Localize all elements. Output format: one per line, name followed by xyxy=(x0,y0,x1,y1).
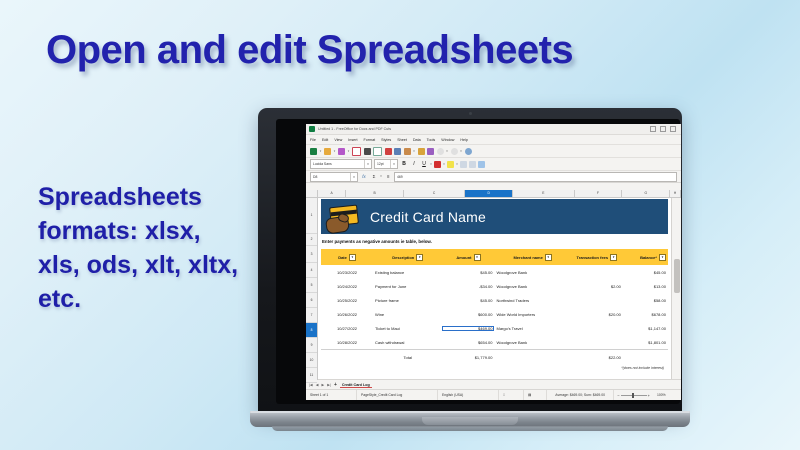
zoom-track[interactable] xyxy=(621,395,647,396)
cell-fee[interactable]: $2.00 xyxy=(571,284,623,289)
minimize-button[interactable] xyxy=(650,126,656,132)
spreadsheet-grid: A B C D E F G H 1 2 3 xyxy=(306,190,681,380)
header-amount-label: Amount xyxy=(456,255,471,260)
header-merchant-label: Merchant name xyxy=(513,255,542,260)
filter-dropdown-icon[interactable]: ▾ xyxy=(659,254,666,261)
print-preview-icon[interactable] xyxy=(373,147,382,156)
row-header-5[interactable]: 5 xyxy=(306,278,317,293)
cell-amount[interactable]: $45.00 xyxy=(442,298,494,303)
header-description-label: Description xyxy=(392,255,414,260)
cell-balance[interactable]: $45.00 xyxy=(623,270,668,275)
zoom-knob[interactable] xyxy=(632,393,634,398)
status-bar: Sheet 1 of 1 PageStyle_Credit Card Log E… xyxy=(306,389,681,400)
cell-merchant[interactable]: Woodgrove Bank xyxy=(494,284,570,289)
formats-line-1: Spreadsheets xyxy=(38,180,278,214)
formats-description: Spreadsheets formats: xlsx, xls, ods, xl… xyxy=(38,180,278,316)
menu-bar[interactable]: File Edit View Insert Format Styles Shee… xyxy=(306,135,681,145)
status-page-style: PageStyle_Credit Card Log xyxy=(357,390,438,400)
cell-merchant[interactable]: Margo's Travel xyxy=(494,326,570,331)
font-name-combo[interactable]: Lucida Sans ▾ xyxy=(310,159,372,169)
zoom-in-icon[interactable]: + xyxy=(648,393,650,398)
table-row[interactable]: 10/27/2022 Ticket to Maui $469.00 Margo'… xyxy=(321,321,668,335)
sheet-tab-credit-card-log[interactable]: Credit Card Log xyxy=(340,383,372,388)
formatting-toolbar[interactable]: Lucida Sans ▾ 12pt ▾ B I U ▾ ▾ xyxy=(306,158,681,171)
cell-fee[interactable]: $20.00 xyxy=(571,312,623,317)
paste-icon[interactable] xyxy=(404,148,411,155)
cell-amount-selected[interactable]: $469.00 xyxy=(442,326,494,331)
function-wizard-icon[interactable]: fx xyxy=(360,174,368,179)
zoom-slider[interactable]: − + xyxy=(614,393,653,398)
column-header-b[interactable]: B xyxy=(346,190,404,197)
laptop-base-notch xyxy=(422,417,518,425)
last-sheet-icon[interactable]: ▶| xyxy=(327,383,331,387)
add-sheet-icon[interactable]: + xyxy=(334,382,337,388)
find-replace-icon[interactable] xyxy=(465,148,472,155)
clone-formatting-icon[interactable] xyxy=(418,148,425,155)
header-merchant[interactable]: Merchant name ▾ xyxy=(494,254,570,261)
header-date[interactable]: Date ▾ xyxy=(321,254,373,261)
cell-merchant[interactable]: Woodgrove Bank xyxy=(494,270,570,275)
row-header-2[interactable]: 2 xyxy=(306,234,317,246)
scrollbar-thumb[interactable] xyxy=(674,259,680,293)
redo-icon[interactable] xyxy=(451,148,458,155)
name-box-value: D8 xyxy=(311,175,350,179)
dropdown-caret-icon: ▾ xyxy=(348,148,350,155)
dropdown-caret-icon: ▾ xyxy=(446,148,448,155)
formula-input[interactable]: 469 xyxy=(394,172,677,182)
font-size-value: 12pt xyxy=(377,160,390,168)
header-balance[interactable]: Balance* ▾ xyxy=(623,254,668,261)
cell-merchant[interactable]: Northwind Traders xyxy=(494,298,570,303)
filter-dropdown-icon[interactable]: ▾ xyxy=(349,254,356,261)
cell-balance[interactable]: $13.00 xyxy=(623,284,668,289)
promo-banner: Open and edit Spreadsheets Spreadsheets … xyxy=(0,0,800,450)
formats-line-3: xls, ods, xlt, xltx, xyxy=(38,248,278,282)
column-header-h[interactable]: H xyxy=(670,190,681,197)
header-fees[interactable]: Transaction fees ▾ xyxy=(571,254,623,261)
menu-format[interactable]: Format xyxy=(363,138,375,142)
cell-date[interactable]: 10/24/2022 xyxy=(321,284,373,289)
laptop-mockup: Untitled 1 - FreeOffice for Docs and PDF… xyxy=(250,108,690,443)
row-headers[interactable]: 1 2 3 4 5 6 7 8 9 10 11 xyxy=(306,197,318,380)
row-header-11[interactable]: 11 xyxy=(306,368,317,383)
font-name-value: Lucida Sans xyxy=(313,160,364,168)
menu-edit[interactable]: Edit xyxy=(322,138,328,142)
cell-date[interactable]: 10/26/2022 xyxy=(321,312,373,317)
laptop-foot xyxy=(272,426,668,431)
dropdown-caret-icon: ▾ xyxy=(443,161,445,168)
selection-mode-icon[interactable]: ⌷ xyxy=(499,390,524,400)
dropdown-caret-icon: ▾ xyxy=(413,148,415,155)
clear-formatting-icon[interactable] xyxy=(427,148,434,155)
formula-icon[interactable]: ≡ xyxy=(384,174,392,179)
cell-merchant[interactable]: Wide World Importers xyxy=(494,312,570,317)
align-right-icon[interactable] xyxy=(478,161,485,168)
row-header-10[interactable]: 10 xyxy=(306,353,317,368)
filter-dropdown-icon[interactable]: ▾ xyxy=(610,254,617,261)
chevron-down-icon[interactable]: ▾ xyxy=(390,160,397,168)
cell-total-fee[interactable]: $22.00 xyxy=(571,355,623,360)
column-header-c[interactable]: C xyxy=(404,190,465,197)
menu-help[interactable]: Help xyxy=(460,138,468,142)
header-amount[interactable]: Amount ▾ xyxy=(442,254,494,261)
standard-toolbar[interactable]: ▾ ▾ ▾ ▾ ▾ xyxy=(306,145,681,158)
table-header-row: Date ▾ Description ▾ Amount xyxy=(321,249,668,265)
dropdown-caret-icon: ▾ xyxy=(430,161,432,168)
table-row[interactable]: 10/28/2022 Cash withdrawal $654.00 Woodg… xyxy=(321,335,668,349)
dropdown-caret-icon: ▾ xyxy=(320,148,322,155)
status-summary: Average: $469.00; Sum: $469.00 xyxy=(547,390,614,400)
export-pdf-icon[interactable] xyxy=(352,147,361,156)
formats-line-4: etc. xyxy=(38,282,278,316)
maximize-button[interactable] xyxy=(660,126,666,132)
close-button[interactable] xyxy=(670,126,676,132)
calc-window: Untitled 1 - FreeOffice for Docs and PDF… xyxy=(306,124,681,400)
cell-description[interactable]: Existing balance xyxy=(373,270,442,275)
cell-amount[interactable]: -$34.00 xyxy=(442,284,494,289)
highlight-color-icon[interactable] xyxy=(447,161,454,168)
table-total-row[interactable]: Total $1,779.00 $22.00 xyxy=(321,349,668,364)
header-description[interactable]: Description ▾ xyxy=(373,254,442,261)
cell-balance[interactable]: $1,147.00 xyxy=(623,326,668,331)
cell-total-amount[interactable]: $1,779.00 xyxy=(442,355,494,360)
laptop-screen: Untitled 1 - FreeOffice for Docs and PDF… xyxy=(306,124,681,400)
table-row[interactable]: 10/26/2022 Wine $600.00 Wide World Impor… xyxy=(321,307,668,321)
cell-description[interactable]: Wine xyxy=(373,312,442,317)
page-title: Open and edit Spreadsheets xyxy=(46,28,666,73)
header-fees-label: Transaction fees xyxy=(577,255,609,260)
name-box[interactable]: D8 ▾ xyxy=(310,172,358,182)
cell-balance[interactable]: $58.00 xyxy=(623,298,668,303)
cell-balance[interactable]: $678.00 xyxy=(623,312,668,317)
first-sheet-icon[interactable]: |◀ xyxy=(309,383,313,387)
calc-app-icon xyxy=(309,126,315,132)
zoom-out-icon[interactable]: − xyxy=(617,393,619,398)
next-sheet-icon[interactable]: ▶ xyxy=(321,383,324,387)
menu-styles[interactable]: Styles xyxy=(381,138,391,142)
select-all-corner[interactable] xyxy=(306,190,318,197)
formats-line-2: formats: xlsx, xyxy=(38,214,278,248)
new-document-icon[interactable] xyxy=(310,148,317,155)
column-header-d[interactable]: D xyxy=(465,190,513,197)
italic-button[interactable]: I xyxy=(410,160,418,168)
menu-insert[interactable]: Insert xyxy=(348,138,357,142)
cell-total-label: Total xyxy=(373,355,442,360)
dropdown-caret-icon: ▾ xyxy=(456,161,458,168)
header-date-label: Date xyxy=(338,255,347,260)
table-row[interactable]: 10/24/2022 Payment for June -$34.00 Wood… xyxy=(321,279,668,293)
laptop-base-highlight xyxy=(250,411,690,413)
print-icon[interactable] xyxy=(364,148,371,155)
header-balance-label: Balance* xyxy=(640,255,657,260)
undo-icon[interactable] xyxy=(437,148,444,155)
cell-description[interactable]: Payment for June xyxy=(373,284,442,289)
window-controls[interactable] xyxy=(650,126,678,132)
window-title-bar: Untitled 1 - FreeOffice for Docs and PDF… xyxy=(306,124,681,135)
cell-amount[interactable]: $600.00 xyxy=(442,312,494,317)
align-center-icon[interactable] xyxy=(469,161,476,168)
cell-description[interactable]: Ticket to Maui xyxy=(373,326,442,331)
cell-description[interactable]: Cash withdrawal xyxy=(373,340,442,345)
transactions-table: Date ▾ Description ▾ Amount xyxy=(321,249,668,370)
cell-description[interactable]: Picture frame xyxy=(373,298,442,303)
column-headers[interactable]: A B C D E F G H xyxy=(306,190,681,198)
align-left-icon[interactable] xyxy=(460,161,467,168)
bold-button[interactable]: B xyxy=(400,160,408,168)
cell-merchant[interactable]: Woodgrove Bank xyxy=(494,340,570,345)
row-header-6[interactable]: 6 xyxy=(306,293,317,308)
row-header-3[interactable]: 3 xyxy=(306,246,317,263)
sum-icon[interactable]: Σ xyxy=(370,174,378,179)
dropdown-caret-icon: ▾ xyxy=(334,148,336,155)
menu-view[interactable]: View xyxy=(334,138,342,142)
cell-date[interactable]: 10/23/2022 xyxy=(321,270,373,275)
menu-data[interactable]: Data xyxy=(413,138,421,142)
menu-sheet[interactable]: Sheet xyxy=(397,138,407,142)
copy-icon[interactable] xyxy=(394,148,401,155)
table-row[interactable]: 10/23/2022 Existing balance $45.00 Woodg… xyxy=(321,265,668,279)
formula-bar[interactable]: D8 ▾ fx Σ ▾ ≡ 469 xyxy=(306,171,681,183)
cut-icon[interactable] xyxy=(385,148,392,155)
sheet-cells[interactable]: Credit Card Name Enter payments as negat… xyxy=(317,197,672,380)
document-modified-icon[interactable]: ▤ xyxy=(524,390,547,400)
cell-date[interactable]: 10/27/2022 xyxy=(321,326,373,331)
chevron-down-icon[interactable]: ▾ xyxy=(350,173,357,181)
webcam-icon xyxy=(469,112,472,115)
table-row[interactable]: 10/25/2022 Picture frame $45.00 Northwin… xyxy=(321,293,668,307)
column-header-g[interactable]: G xyxy=(622,190,670,197)
dropdown-caret-icon: ▾ xyxy=(460,148,462,155)
laptop-lid: Untitled 1 - FreeOffice for Docs and PDF… xyxy=(258,108,682,415)
column-header-a[interactable]: A xyxy=(318,190,346,197)
card-title-banner: Credit Card Name xyxy=(321,199,668,234)
menu-window[interactable]: Window xyxy=(441,138,454,142)
chevron-down-icon[interactable]: ▾ xyxy=(364,160,371,168)
table-footnote: *(does not include interest) xyxy=(321,366,668,370)
window-title: Untitled 1 - FreeOffice for Docs and PDF… xyxy=(318,127,391,131)
row-header-7[interactable]: 7 xyxy=(306,308,317,323)
filter-dropdown-icon[interactable]: ▾ xyxy=(474,254,481,261)
row-header-9[interactable]: 9 xyxy=(306,338,317,353)
column-header-f[interactable]: F xyxy=(575,190,623,197)
underline-button[interactable]: U xyxy=(420,160,428,168)
menu-tools[interactable]: Tools xyxy=(427,138,436,142)
filter-dropdown-icon[interactable]: ▾ xyxy=(416,254,423,261)
open-folder-icon[interactable] xyxy=(324,148,331,155)
status-sheet-count: Sheet 1 of 1 xyxy=(306,390,357,400)
credit-card-in-hand-icon xyxy=(324,201,364,233)
vertical-scrollbar[interactable] xyxy=(671,197,681,380)
font-color-icon[interactable] xyxy=(434,161,441,168)
previous-sheet-icon[interactable]: ◀ xyxy=(316,383,319,387)
cell-date[interactable]: 10/25/2022 xyxy=(321,298,373,303)
row-header-8[interactable]: 8 xyxy=(306,323,317,338)
save-icon[interactable] xyxy=(338,148,345,155)
column-header-e[interactable]: E xyxy=(513,190,574,197)
cell-amount[interactable]: $654.00 xyxy=(442,340,494,345)
row-header-1[interactable]: 1 xyxy=(306,197,317,234)
card-title-text: Credit Card Name xyxy=(370,209,486,225)
instruction-text: Enter payments as negative amounts ie ta… xyxy=(322,239,432,244)
cell-amount[interactable]: $45.00 xyxy=(442,270,494,275)
menu-file[interactable]: File xyxy=(310,138,316,142)
dropdown-caret-icon: ▾ xyxy=(380,173,382,180)
status-zoom-level: 100% xyxy=(653,390,681,400)
row-header-4[interactable]: 4 xyxy=(306,263,317,278)
cell-balance[interactable]: $1,801.00 xyxy=(623,340,668,345)
filter-dropdown-icon[interactable]: ▾ xyxy=(545,254,552,261)
font-size-combo[interactable]: 12pt ▾ xyxy=(374,159,398,169)
status-language: English (USA) xyxy=(438,390,499,400)
cell-date[interactable]: 10/28/2022 xyxy=(321,340,373,345)
